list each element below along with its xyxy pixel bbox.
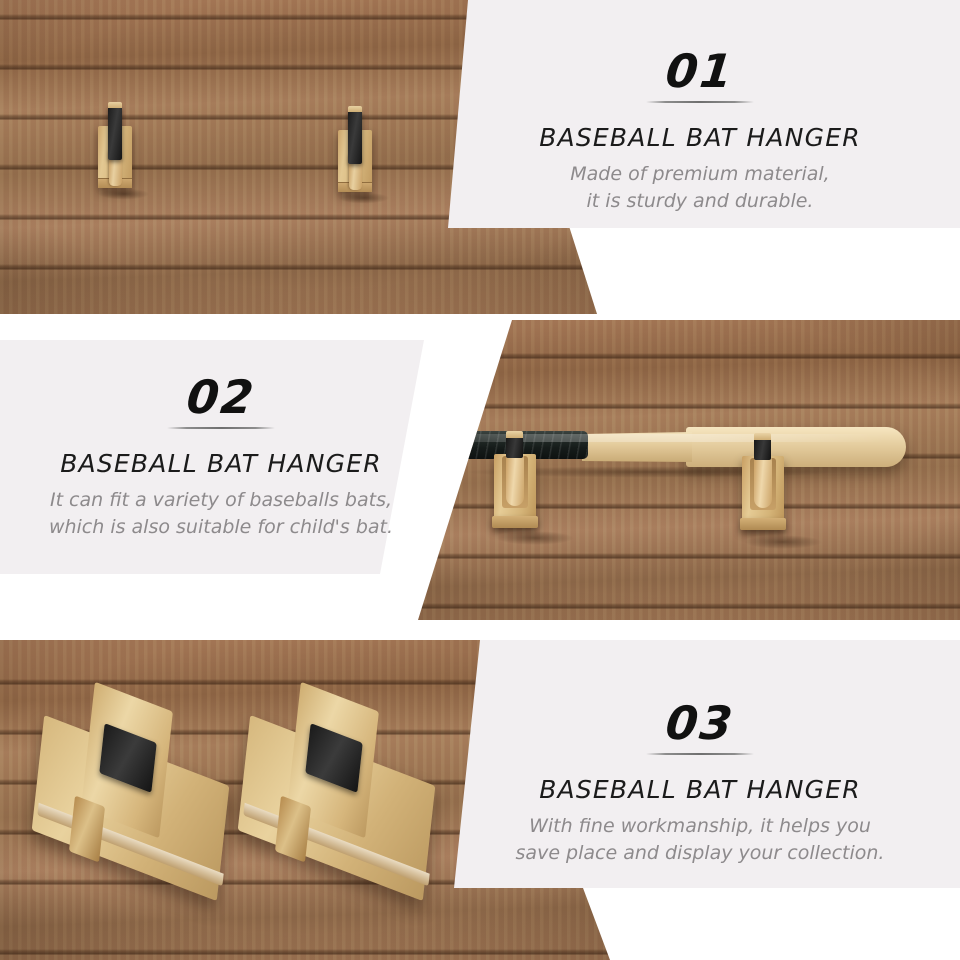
- bracket-top-cap: [108, 102, 122, 108]
- description-line: it is sturdy and durable.: [440, 188, 960, 215]
- section-text-01: 01 BASEBALL BAT HANGER Made of premium m…: [440, 0, 960, 314]
- bracket-rubber-pad: [754, 438, 771, 460]
- bracket-rubber-pad: [108, 106, 122, 160]
- section-number: 01: [664, 48, 737, 94]
- bracket-top-cap: [506, 431, 523, 438]
- bat-bracket: [736, 438, 790, 542]
- description-line: which is also suitable for child's bat.: [0, 514, 456, 541]
- bat-bracket: [92, 104, 138, 196]
- bat-bracket: [488, 436, 542, 540]
- description-line: With fine workmanship, it helps you: [440, 813, 960, 840]
- bracket-peg: [275, 795, 311, 862]
- section-number: 03: [664, 700, 737, 746]
- section-description: Made of premium material, it is sturdy a…: [440, 161, 960, 215]
- bracket-peg: [69, 795, 105, 862]
- section-number-underline: [167, 427, 275, 429]
- product-infographic: 01 BASEBALL BAT HANGER Made of premium m…: [0, 0, 960, 960]
- bracket-peg: [506, 450, 524, 506]
- bat-barrel: [686, 427, 906, 467]
- section-number: 02: [185, 374, 258, 420]
- section-text-02: 02 BASEBALL BAT HANGER It can fit a vari…: [0, 320, 470, 620]
- description-line: save place and display your collection.: [440, 840, 960, 867]
- section-number-underline: [646, 753, 754, 755]
- section-text-03: 03 BASEBALL BAT HANGER With fine workman…: [440, 640, 960, 960]
- bracket-top-cap: [754, 433, 771, 440]
- bracket-rubber-pad: [506, 436, 523, 458]
- section-description: It can fit a variety of baseballs bats, …: [0, 487, 456, 541]
- bracket-foot: [492, 516, 538, 528]
- section-description: With fine workmanship, it helps you save…: [440, 813, 960, 867]
- section-number-underline: [646, 101, 754, 103]
- section-headline: BASEBALL BAT HANGER: [0, 449, 456, 478]
- description-line: It can fit a variety of baseballs bats,: [0, 487, 456, 514]
- section-panel-03: 03 BASEBALL BAT HANGER With fine workman…: [0, 640, 960, 960]
- section-panel-02: 02 BASEBALL BAT HANGER It can fit a vari…: [0, 320, 960, 620]
- bracket-foot: [740, 518, 786, 530]
- description-line: Made of premium material,: [440, 161, 960, 188]
- section-headline: BASEBALL BAT HANGER: [440, 123, 960, 152]
- bracket-rubber-pad: [348, 110, 362, 164]
- section-panel-01: 01 BASEBALL BAT HANGER Made of premium m…: [0, 0, 960, 314]
- bracket-peg: [754, 452, 772, 508]
- bracket-top-cap: [348, 106, 362, 112]
- bat-highlight: [406, 434, 886, 442]
- bat-bracket: [332, 108, 378, 200]
- section-headline: BASEBALL BAT HANGER: [440, 775, 960, 804]
